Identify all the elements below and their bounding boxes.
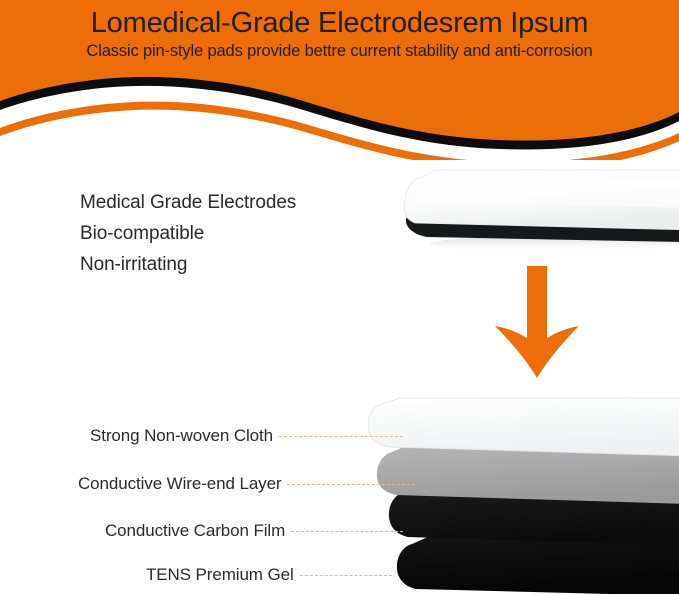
feature-item-0: Medical Grade Electrodes [80, 188, 410, 219]
leader-line-0 [279, 436, 403, 437]
leader-line-2 [291, 531, 403, 532]
page-title: Lomedical-Grade Electrodesrem Ipsum [0, 0, 679, 40]
layer-label-2: Conductive Carbon Film [105, 519, 403, 543]
feature-item-2: Non-irritating [80, 250, 410, 281]
layer-label-3: TENS Premium Gel [146, 563, 392, 587]
header-banner: Lomedical-Grade Electrodesrem Ipsum Clas… [0, 0, 679, 160]
layer-label-1: Conductive Wire-end Layer [78, 472, 415, 496]
leader-line-1 [287, 484, 415, 485]
product-infographic: Lomedical-Grade Electrodesrem Ipsum Clas… [0, 0, 679, 594]
feature-item-1: Bio-compatible [80, 219, 410, 250]
layer-label-2-text: Conductive Carbon Film [105, 521, 285, 541]
layer-label-0: Strong Non-woven Cloth [90, 424, 403, 448]
arrow-shape [495, 266, 579, 378]
page-subtitle: Classic pin-style pads provide bettre cu… [0, 40, 679, 62]
leader-line-3 [300, 575, 392, 576]
layer-label-1-text: Conductive Wire-end Layer [78, 474, 281, 494]
layer-label-0-text: Strong Non-woven Cloth [90, 426, 273, 446]
feature-list: Medical Grade Electrodes Bio-compatible … [80, 188, 410, 280]
layer-label-group: Strong Non-woven Cloth Conductive Wire-e… [0, 396, 679, 594]
layer-label-3-text: TENS Premium Gel [146, 565, 294, 585]
down-arrow-icon [495, 266, 579, 378]
electrode-pad-image [393, 168, 679, 250]
